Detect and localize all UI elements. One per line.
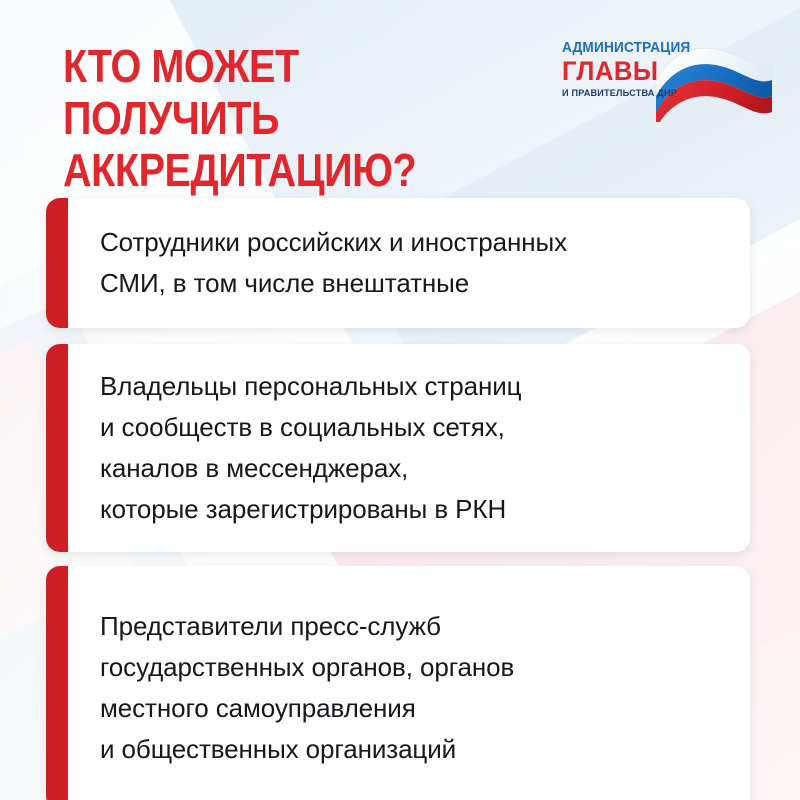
card-body: Сотрудники российских и иностранных СМИ,… [68, 198, 750, 328]
eligibility-card: Владельцы персональных страниц и сообщес… [46, 344, 750, 552]
eligibility-card-list: Сотрудники российских и иностранных СМИ,… [0, 0, 800, 800]
card-accent-bar [46, 198, 68, 328]
card-text: Представители пресс-служб государственны… [100, 606, 514, 770]
card-body: Представители пресс-служб государственны… [68, 566, 750, 800]
card-accent-bar [46, 566, 68, 800]
card-body: Владельцы персональных страниц и сообщес… [68, 344, 750, 552]
card-accent-bar [46, 344, 68, 552]
eligibility-card: Сотрудники российских и иностранных СМИ,… [46, 198, 750, 328]
eligibility-card: Представители пресс-служб государственны… [46, 566, 750, 800]
card-text: Сотрудники российских и иностранных СМИ,… [100, 222, 567, 304]
infographic-poster: Кто может получить аккредитацию? [0, 0, 800, 800]
card-text: Владельцы персональных страниц и сообщес… [100, 366, 521, 530]
